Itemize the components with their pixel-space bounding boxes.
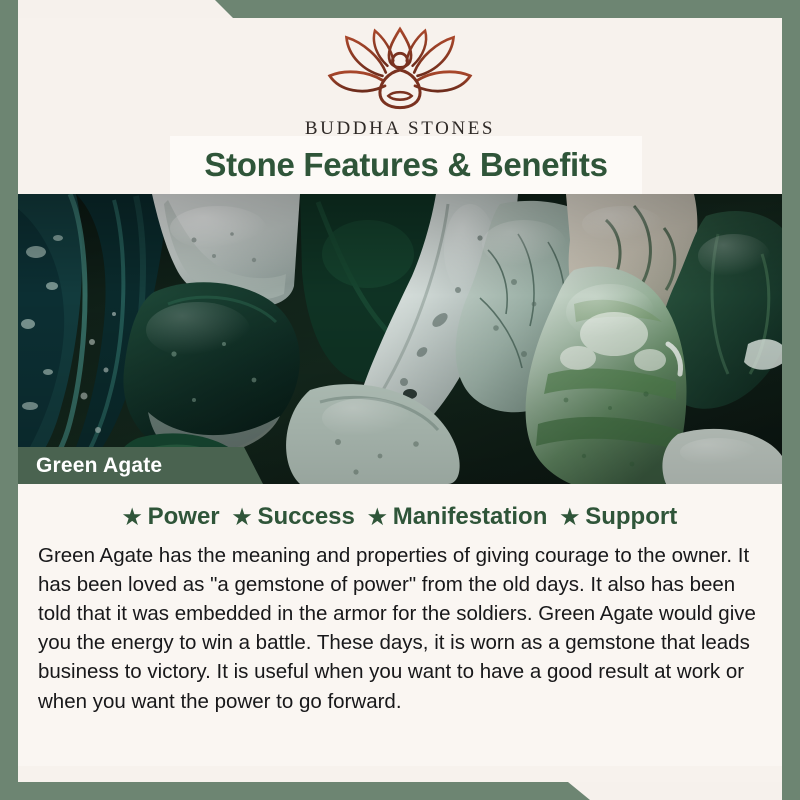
- brand-header: BUDDHA STONES Stone Features & Benefits: [18, 18, 782, 194]
- stone-name-banner: Green Agate: [18, 447, 263, 484]
- star-icon: ★: [123, 507, 142, 528]
- frame-top-border: [0, 0, 800, 18]
- benefit-label: Power: [148, 503, 220, 531]
- green-agate-stones-illustration: [18, 194, 782, 484]
- benefit-item-manifestation: ★ Manifestation: [368, 503, 548, 531]
- star-icon: ★: [233, 507, 252, 528]
- benefit-item-power: ★ Power: [123, 503, 220, 531]
- benefit-item-success: ★ Success: [233, 503, 355, 531]
- brand-logo: BUDDHA STONES: [18, 24, 782, 140]
- benefit-label: Success: [257, 503, 354, 531]
- stone-name: Green Agate: [18, 454, 162, 478]
- star-icon: ★: [560, 507, 579, 528]
- page-title: Stone Features & Benefits: [204, 146, 607, 184]
- star-icon: ★: [368, 507, 387, 528]
- benefit-label: Support: [585, 503, 677, 531]
- poster-page: BUDDHA STONES Stone Features & Benefits: [18, 18, 782, 782]
- stone-description: Green Agate has the meaning and properti…: [34, 541, 766, 716]
- frame-bottom-border: [0, 782, 800, 800]
- stone-info-poster: BUDDHA STONES Stone Features & Benefits: [0, 0, 800, 800]
- benefit-item-support: ★ Support: [560, 503, 677, 531]
- stone-info-panel: ★ Power ★ Success ★ Manifestation ★ Supp…: [18, 484, 782, 766]
- benefit-label: Manifestation: [393, 503, 548, 531]
- frame-right-border: [782, 0, 800, 800]
- lotus-meditation-icon: [316, 24, 484, 116]
- page-title-band: Stone Features & Benefits: [170, 136, 642, 194]
- frame-left-border: [0, 0, 18, 800]
- stone-photo: Green Agate: [18, 194, 782, 484]
- benefits-list: ★ Power ★ Success ★ Manifestation ★ Supp…: [34, 503, 766, 531]
